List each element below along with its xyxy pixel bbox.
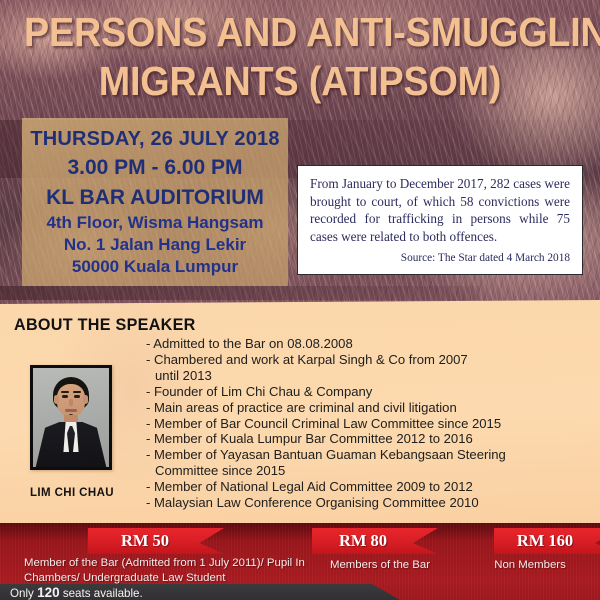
price-description-rm160: Non Members [470,558,590,573]
bio-item: - Chambered and work at Karpal Singh & C… [146,352,594,384]
event-poster: PERSONS AND ANTI-SMUGGLING OF MIGRANTS (… [0,0,600,600]
bio-item: - Member of Kuala Lumpur Bar Committee 2… [146,431,594,447]
price-tag-rm160: RM 160 [494,528,600,554]
bio-item: - Admitted to the Bar on 08.08.2008 [146,336,594,352]
bio-item-text: - Malaysian Law Conference Organising Co… [146,495,479,510]
event-time: 3.00 PM - 6.00 PM [22,153,288,183]
bio-item-continuation: Committee since 2015 [146,463,594,479]
title-line-2: MIGRANTS (ATIPSOM) [24,57,576,106]
event-date: THURSDAY, 26 JULY 2018 [22,126,288,153]
portrait-eyebrow-right [73,391,81,393]
statistics-body-text: From January to December 2017, 282 cases… [310,175,570,245]
portrait-mouth [65,409,77,412]
bio-item-text: - Chambered and work at Karpal Singh & C… [146,352,468,367]
event-address-line-1: 4th Floor, Wisma Hangsam [22,212,288,234]
portrait-eye-left [62,395,68,398]
price-description-rm80: Members of the Bar [300,558,460,573]
bio-item-text: - Founder of Lim Chi Chau & Company [146,384,372,399]
speaker-bio-list: - Admitted to the Bar on 08.08.2008 - Ch… [146,336,594,511]
bio-item: - Member of Bar Council Criminal Law Com… [146,416,594,432]
bio-item-text: - Member of National Legal Aid Committee… [146,479,473,494]
bio-item: - Member of Yayasan Bantuan Guaman Keban… [146,447,594,479]
seats-availability-text: Only 120 seats available. [10,585,143,600]
about-the-speaker-heading: ABOUT THE SPEAKER [14,315,196,335]
seats-count: 120 [37,585,60,600]
bio-item: - Member of National Legal Aid Committee… [146,479,594,495]
seats-suffix: seats available. [60,587,143,600]
price-description-rm50: Member of the Bar (Admitted from 1 July … [24,556,324,585]
portrait-eyebrow-left [61,391,69,393]
speaker-portrait-photo [33,368,109,467]
bio-item: - Founder of Lim Chi Chau & Company [146,384,594,400]
statistics-callout-box: From January to December 2017, 282 cases… [297,165,583,275]
hero-shadow-band-lower [0,286,480,300]
portrait-nose [69,399,73,406]
bio-item-text: - Member of Kuala Lumpur Bar Committee 2… [146,431,473,446]
speaker-portrait-frame [30,365,112,470]
bio-item-text: - Member of Yayasan Bantuan Guaman Keban… [146,447,506,462]
bio-item-text: - Admitted to the Bar on 08.08.2008 [146,336,353,351]
event-details-panel: THURSDAY, 26 JULY 2018 3.00 PM - 6.00 PM… [22,118,288,286]
bio-item-text: - Main areas of practice are criminal an… [146,400,457,415]
seats-prefix: Only [10,587,37,600]
portrait-eye-right [74,395,80,398]
title-line-1: PERSONS AND ANTI-SMUGGLING OF [24,8,576,57]
statistics-source: Source: The Star dated 4 March 2018 [310,252,570,264]
bio-item: - Main areas of practice are criminal an… [146,400,594,416]
speaker-name: LIM CHI CHAU [18,487,126,499]
event-address-line-3: 50000 Kuala Lumpur [22,256,288,278]
event-address-line-2: No. 1 Jalan Hang Lekir [22,234,288,256]
portrait-ear-left [54,395,59,404]
bio-item: - Malaysian Law Conference Organising Co… [146,495,594,511]
bio-item-text: - Member of Bar Council Criminal Law Com… [146,416,501,431]
event-venue: KL BAR AUDITORIUM [22,183,288,212]
portrait-ear-right [83,395,88,404]
poster-title: PERSONS AND ANTI-SMUGGLING OF MIGRANTS (… [0,8,600,106]
bio-item-continuation: until 2013 [146,368,594,384]
